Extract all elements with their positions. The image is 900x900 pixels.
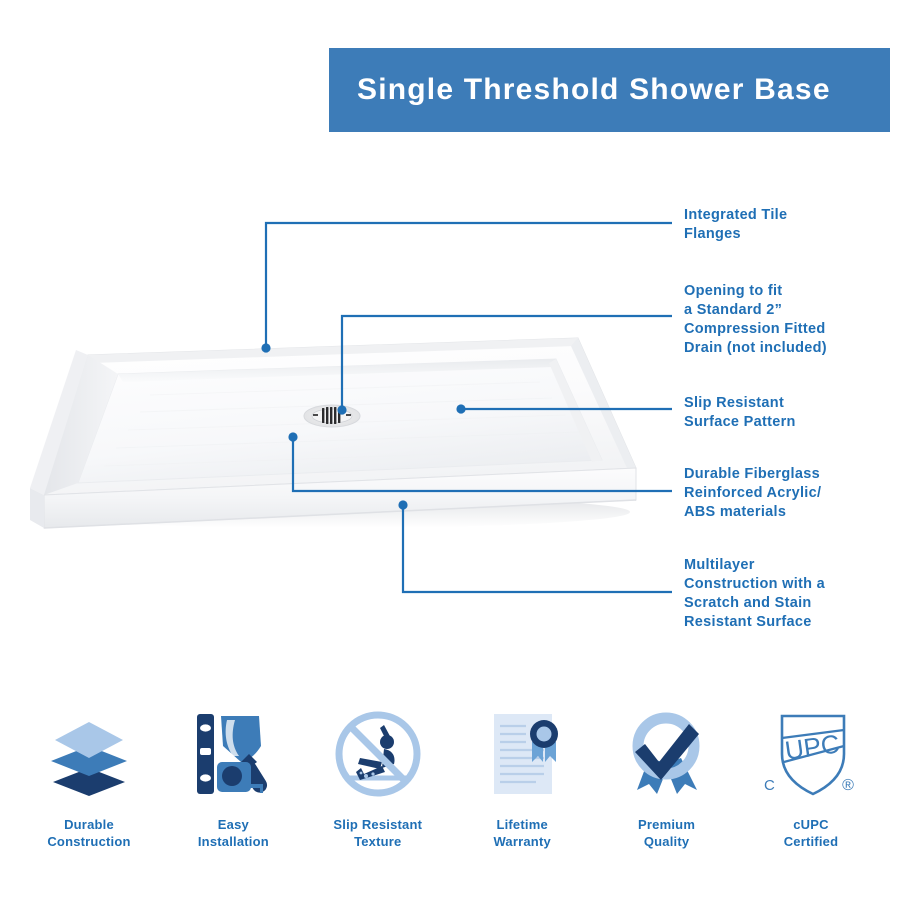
no-slip-icon bbox=[330, 700, 426, 808]
feature-lifetime-warranty: Lifetime Warranty bbox=[457, 700, 587, 875]
feature-label-cupc-certified: cUPC Certified bbox=[784, 816, 839, 850]
feature-label-easy-installation: Easy Installation bbox=[198, 816, 269, 850]
feature-easy-installation: Easy Installation bbox=[168, 700, 298, 875]
feature-durable-construction: Durable Construction bbox=[24, 700, 154, 875]
feature-premium-quality: Premium Quality bbox=[602, 700, 732, 875]
certificate-icon bbox=[474, 700, 570, 808]
feature-label-slip-resistant-texture: Slip Resistant Texture bbox=[333, 816, 422, 850]
title-banner: Single Threshold Shower Base bbox=[329, 48, 890, 132]
feature-label-lifetime-warranty: Lifetime Warranty bbox=[493, 816, 550, 850]
layers-icon bbox=[41, 700, 137, 808]
callout-slip-resistant-surface: Slip Resistant Surface Pattern bbox=[684, 394, 796, 432]
callout-drain-opening: Opening to fit a Standard 2” Compression… bbox=[684, 282, 827, 358]
feature-slip-resistant-texture: Slip Resistant Texture bbox=[313, 700, 443, 875]
upc-registered-mark: ® bbox=[842, 777, 854, 794]
check-rosette-icon bbox=[619, 700, 715, 808]
feature-label-durable-construction: Durable Construction bbox=[47, 816, 130, 850]
page-title: Single Threshold Shower Base bbox=[329, 73, 831, 107]
upc-left-mark: C bbox=[764, 777, 775, 794]
drain-grate-icon bbox=[304, 405, 360, 427]
level-trowel-icon bbox=[185, 700, 281, 808]
base-left-face bbox=[30, 488, 44, 528]
feature-strip: Durable Construction bbox=[0, 700, 900, 875]
feature-label-premium-quality: Premium Quality bbox=[638, 816, 695, 850]
feature-cupc-certified: UPC C ® cUPC Certified bbox=[746, 700, 876, 875]
upc-shield-icon: UPC C ® bbox=[756, 700, 866, 808]
callout-integrated-tile-flanges: Integrated Tile Flanges bbox=[684, 206, 787, 244]
callout-durable-materials: Durable Fiberglass Reinforced Acrylic/ A… bbox=[684, 465, 821, 522]
callout-multilayer-construction: Multilayer Construction with a Scratch a… bbox=[684, 556, 825, 632]
